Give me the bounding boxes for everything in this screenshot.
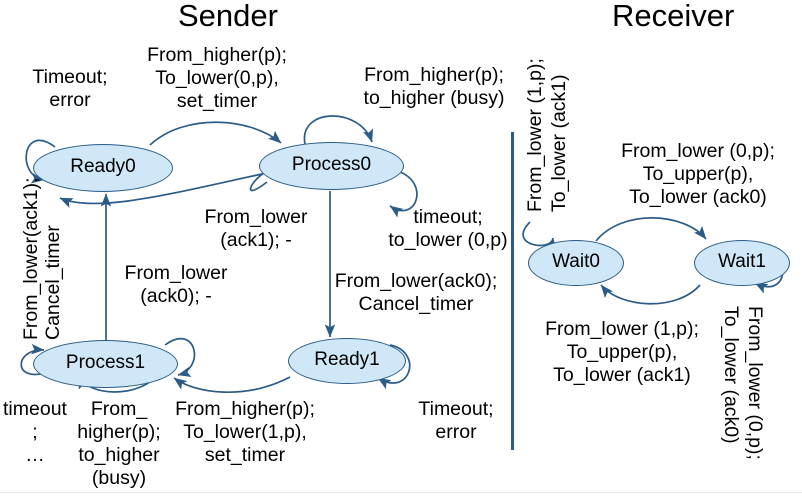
label-wait0-to-wait1: From_lower (0,p);To_upper(p),To_lower (a… (596, 140, 800, 209)
state-ready0[interactable]: Ready0 (33, 144, 173, 192)
label-process1-to-ready0: From_lower(ack0); - (106, 262, 246, 308)
label-ready0-to-process0: From_higher(p);To_lower(0,p),set_timer (124, 44, 310, 113)
state-wait0-label: Wait0 (552, 251, 600, 273)
bottom-bar (0, 492, 802, 501)
label-process1-self-left: timeout;… (0, 398, 70, 467)
receiver-title: Receiver (612, 0, 734, 34)
label-process0-to-ready1: From_lower(ack0);Cancel_timer (328, 270, 504, 316)
state-wait1-label: Wait1 (718, 251, 766, 273)
state-process0-label: Process0 (292, 154, 371, 176)
edge-ready0-to-process0 (150, 122, 281, 145)
label-wait0-self-line2: To_lower (ack1) (548, 74, 571, 212)
state-ready0-label: Ready0 (70, 156, 136, 178)
state-diagram-canvas: Sender Receiver Ready0 Process0 Process1… (0, 0, 802, 501)
label-ready1-self: Timeout;error (396, 398, 516, 444)
state-process0[interactable]: Process0 (259, 142, 404, 190)
state-wait0[interactable]: Wait0 (528, 240, 624, 286)
label-ready0-self: Timeout;error (10, 66, 130, 112)
label-wait1-to-wait0: From_lower (1,p);To_upper(p),To_lower (a… (520, 318, 724, 387)
sender-title: Sender (178, 0, 278, 34)
edge-wait0-to-wait1 (596, 218, 706, 241)
label-wait0-self-line1: From_lower (1,p); (524, 58, 547, 212)
label-process0-self-top: From_higher(p);to_higher (busy) (330, 64, 538, 110)
edge-ready1-to-process1 (174, 377, 290, 392)
label-wait1-self-line2: To_lower (ack0) (719, 306, 742, 444)
edge-wait1-to-wait0 (601, 285, 700, 304)
edge-process0-self-top (304, 116, 372, 144)
label-process0-to-ready0-line1: From_lower(ack1); (20, 177, 43, 340)
label-process0-to-ready0-line2: Cancel_timer (42, 225, 65, 340)
label-ready1-to-process1: From_higher(p);To_lower(1,p),set_timer (152, 398, 338, 467)
state-process1[interactable]: Process1 (33, 340, 178, 388)
state-wait1[interactable]: Wait1 (694, 240, 790, 286)
state-ready1-label: Ready1 (314, 349, 380, 371)
state-process1-label: Process1 (66, 352, 145, 374)
label-wait1-self-line1: From_lower (0,p); (743, 306, 766, 460)
state-ready1[interactable]: Ready1 (288, 338, 406, 384)
label-process0-self-right: timeout;to_lower (0,p) (368, 206, 528, 252)
label-process0-self-left: From_lower(ack1); - (186, 206, 326, 252)
